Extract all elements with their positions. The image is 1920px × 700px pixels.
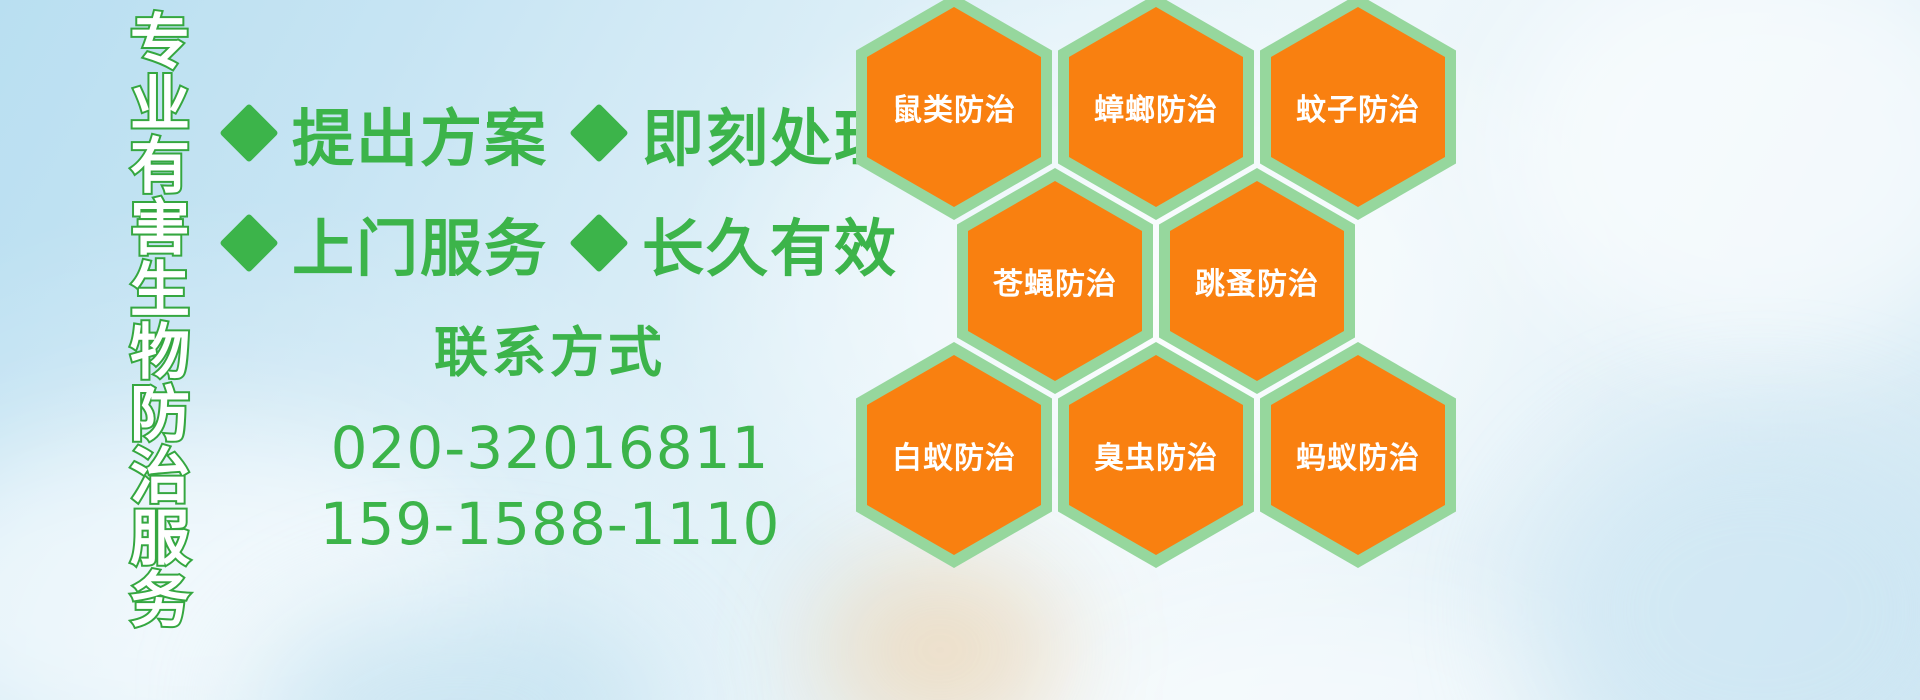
feature-label: 上门服务 [292,198,548,288]
pest-control-banner: 专 业 有 害 生 物 防 治 服 务 提出方案 即刻处理 上门服务 [0,0,1920,700]
background-blob [1050,590,1570,700]
service-honeycomb: 鼠类防治 蟑螂防治 蚊子防治 苍蝇防治 跳蚤防治 [856,0,1456,566]
contact-block: 联系方式 020-32016811 159-1588-1110 [310,318,790,562]
diamond-bullet-icon [219,213,278,272]
vertical-title-char: 业 [130,74,190,136]
service-label: 蟑螂防治 [1094,85,1218,129]
diamond-bullet-icon [569,213,628,272]
contact-title: 联系方式 [310,318,790,388]
phone-number-landline[interactable]: 020-32016811 [310,410,790,486]
feature-label: 提出方案 [292,88,548,178]
feature-list: 提出方案 即刻处理 上门服务 长久有效 [228,78,868,298]
feature-item-door-to-door-service: 上门服务 [228,198,548,288]
service-label: 跳蚤防治 [1195,259,1319,303]
vertical-title-char: 服 [130,508,190,570]
service-hex-ant[interactable]: 蚂蚁防治 [1260,342,1456,568]
service-label: 蚊子防治 [1296,85,1420,129]
feature-row: 上门服务 长久有效 [228,188,868,298]
vertical-title-char: 防 [130,384,190,446]
vertical-title-char: 专 [130,12,190,74]
background-blob [1530,420,1920,700]
vertical-title-char: 害 [130,198,190,260]
service-hex-bedbug[interactable]: 臭虫防治 [1058,342,1254,568]
service-label: 白蚁防治 [892,433,1016,477]
feature-item-long-lasting-effect: 长久有效 [578,198,898,288]
vertical-title: 专 业 有 害 生 物 防 治 服 务 [108,12,212,632]
feature-item-propose-plan: 提出方案 [228,88,548,178]
vertical-title-char: 务 [130,570,190,632]
background-blob [250,600,670,700]
vertical-title-char: 物 [130,322,190,384]
diamond-bullet-icon [569,103,628,162]
feature-item-immediate-handling: 即刻处理 [578,88,898,178]
vertical-title-char: 有 [130,136,190,198]
vertical-title-char: 生 [130,260,190,322]
feature-row: 提出方案 即刻处理 [228,78,868,188]
background-blob [820,560,1060,700]
vertical-title-char: 治 [130,446,190,508]
phone-number-mobile[interactable]: 159-1588-1110 [310,486,790,562]
service-label: 鼠类防治 [892,85,1016,129]
background-blob [1500,0,1920,360]
service-label: 臭虫防治 [1094,433,1218,477]
service-hex-termite[interactable]: 白蚁防治 [856,342,1052,568]
service-label: 苍蝇防治 [993,259,1117,303]
service-label: 蚂蚁防治 [1296,433,1420,477]
diamond-bullet-icon [219,103,278,162]
